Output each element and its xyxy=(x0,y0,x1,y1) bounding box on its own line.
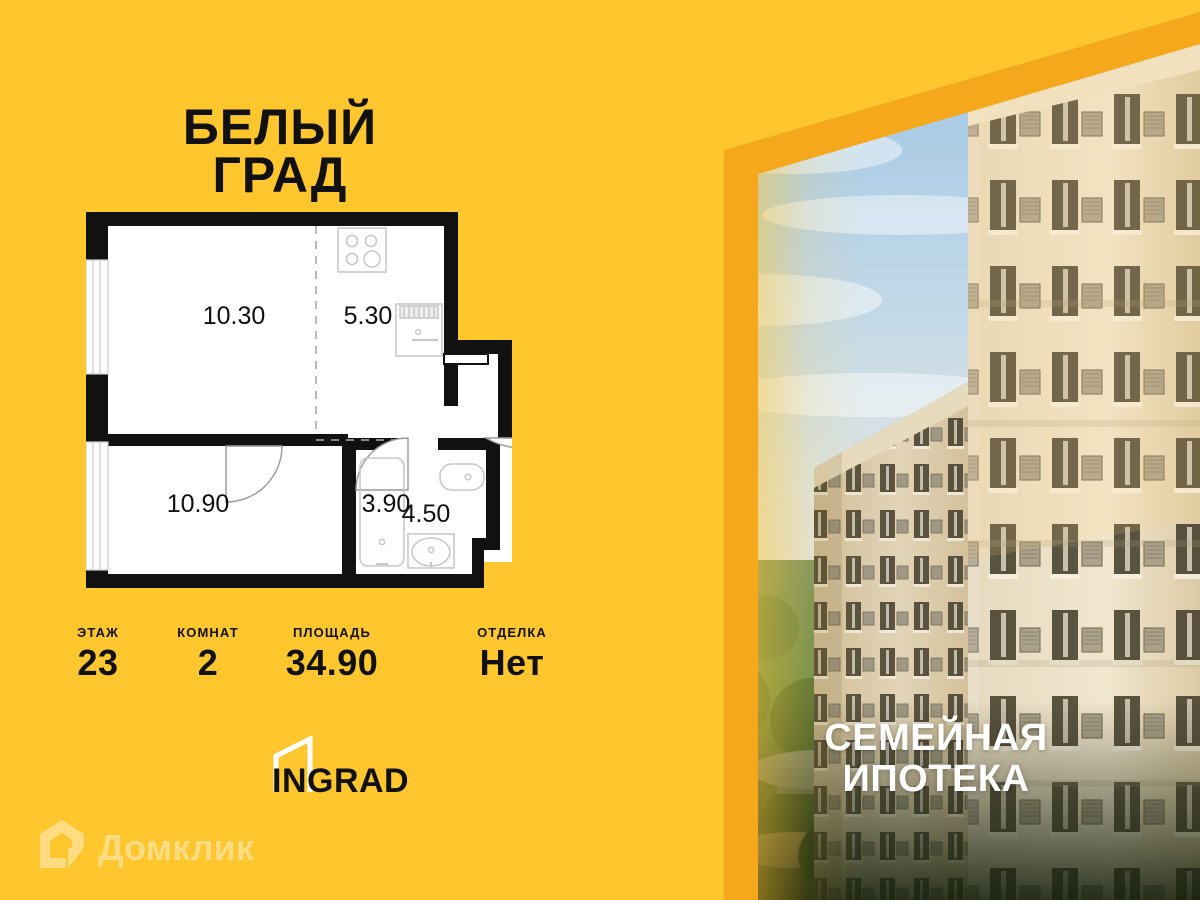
stat-finishing-label: ОТДЕЛКА xyxy=(452,626,572,639)
advertisement-card: БЕЛЫЙ ГРАД xyxy=(0,0,1200,900)
room-area-bedroom: 10.90 xyxy=(167,490,230,518)
stat-rooms-label: КОМНАТ xyxy=(162,626,254,639)
promo-headline: СЕМЕЙНАЯ ИПОТЕКА xyxy=(672,718,1200,800)
stat-finishing: ОТДЕЛКА Нет xyxy=(452,626,572,681)
window-bedroom xyxy=(86,442,108,570)
apartment-stats: ЭТАЖ 23 КОМНАТ 2 ПЛОЩАДЬ 34.90 ОТДЕЛКА Н… xyxy=(52,626,552,692)
room-area-living-room: 10.30 xyxy=(203,302,266,330)
stat-area-label: ПЛОЩАДЬ xyxy=(262,626,402,639)
stat-rooms: КОМНАТ 2 xyxy=(162,626,254,681)
domclick-house-icon xyxy=(40,820,84,868)
developer-logo: INGRAD xyxy=(268,736,418,798)
room-area-kitchen: 5.30 xyxy=(344,302,393,330)
promo-line-2: ИПОТЕКА xyxy=(672,759,1200,800)
project-title: БЕЛЫЙ ГРАД xyxy=(0,104,560,199)
stat-floor: ЭТАЖ 23 xyxy=(52,626,144,681)
developer-logo-text: INGRAD xyxy=(272,762,409,798)
stat-rooms-value: 2 xyxy=(162,645,254,681)
stat-area-value: 34.90 xyxy=(262,645,402,681)
stat-finishing-value: Нет xyxy=(452,645,572,681)
room-area-bathroom: 4.50 xyxy=(402,500,451,528)
stat-area: ПЛОЩАДЬ 34.90 xyxy=(262,626,402,681)
info-panel: БЕЛЫЙ ГРАД xyxy=(0,0,672,900)
domclick-watermark-text: Домклик xyxy=(98,827,255,868)
floor-plan: 10.30 5.30 10.90 3.90 4.50 xyxy=(86,212,512,588)
stat-floor-label: ЭТАЖ xyxy=(52,626,144,639)
project-title-line2: ГРАД xyxy=(0,152,560,200)
window-living-room xyxy=(86,260,108,374)
stat-floor-value: 23 xyxy=(52,645,144,681)
promo-line-1: СЕМЕЙНАЯ xyxy=(672,718,1200,759)
building-photo-panel: СЕМЕЙНАЯ ИПОТЕКА xyxy=(672,0,1200,900)
domclick-watermark: Домклик xyxy=(36,818,292,870)
